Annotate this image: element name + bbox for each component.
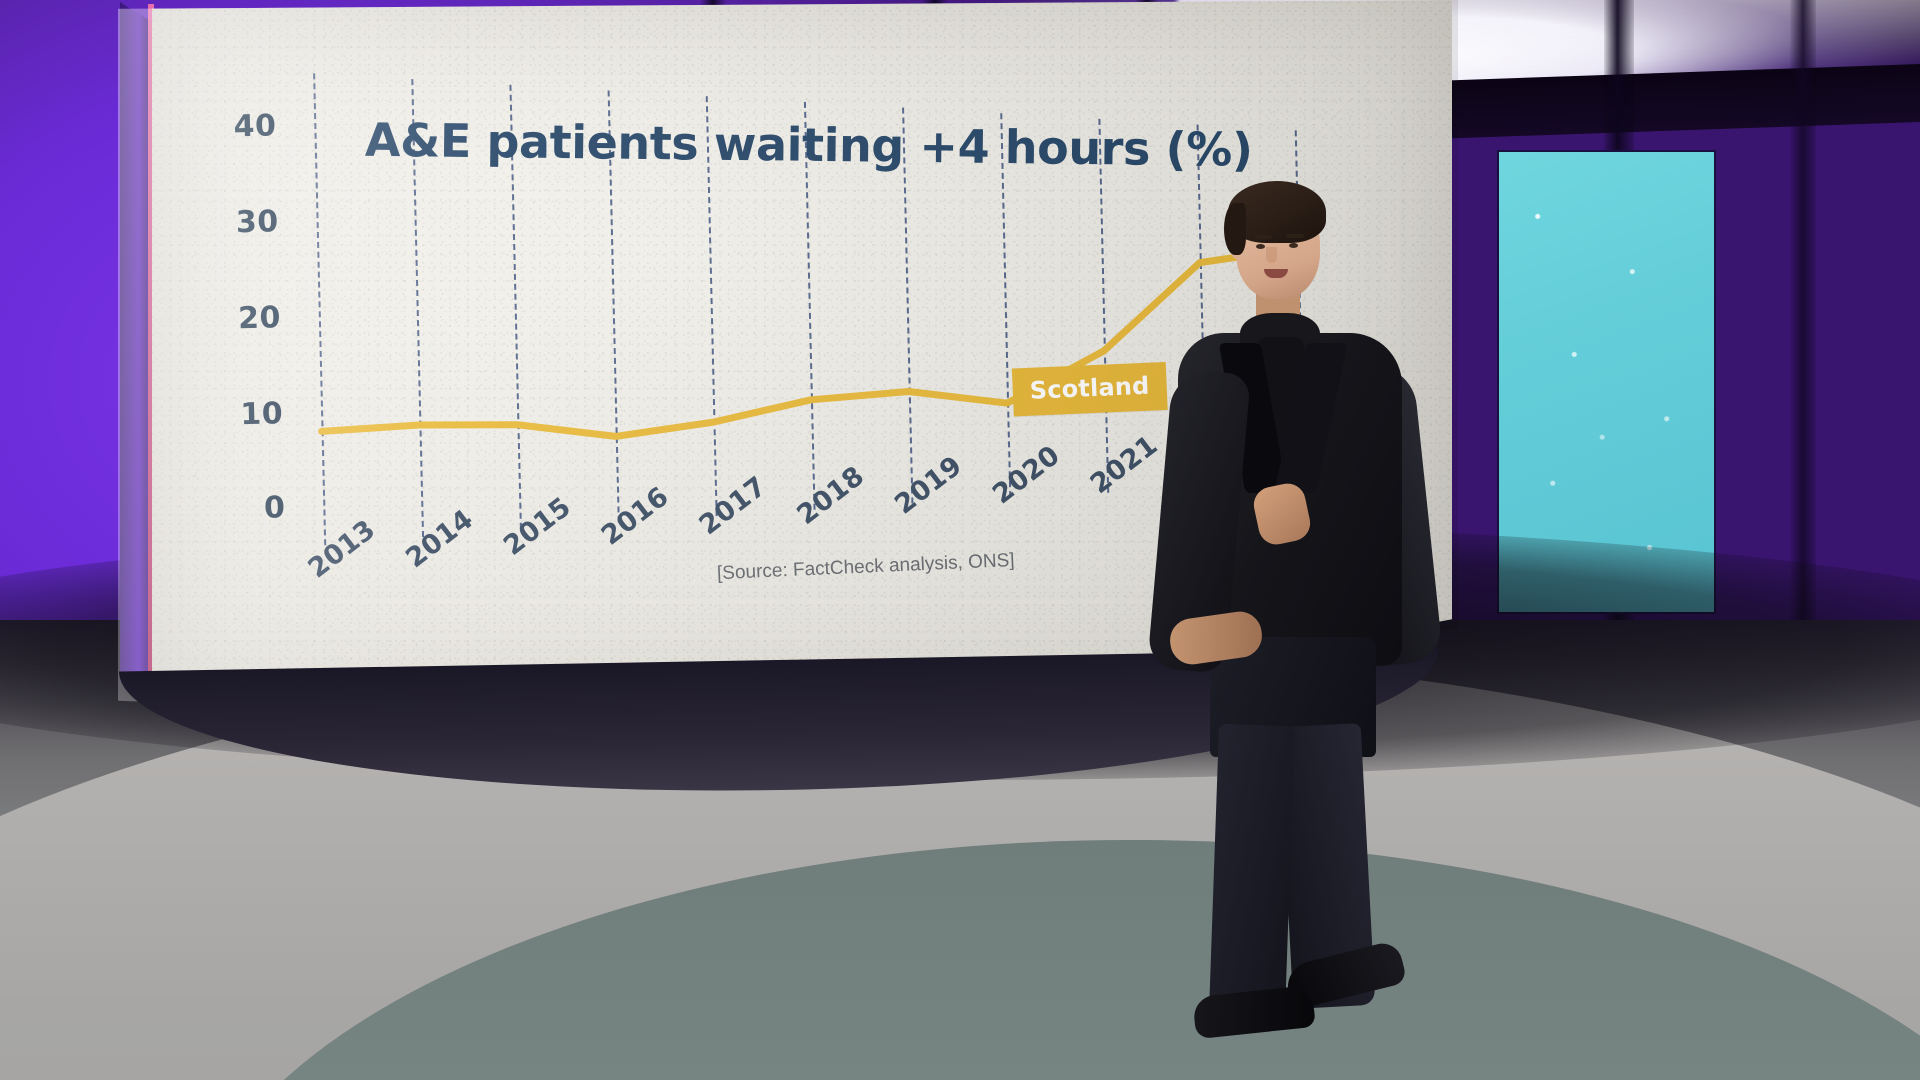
presenter-eye-left bbox=[1256, 244, 1265, 249]
presenter-eye-right bbox=[1289, 243, 1298, 248]
presenter-brow-left bbox=[1254, 235, 1272, 239]
presenter-leg-left bbox=[1209, 724, 1295, 1016]
presenter-sideburn bbox=[1224, 203, 1246, 255]
presenter-brow-right bbox=[1286, 234, 1304, 238]
presenter-nose bbox=[1266, 247, 1277, 263]
presenter bbox=[1140, 185, 1480, 975]
studio-scene: 40 30 20 10 0 A&E patients waiting +4 ho… bbox=[0, 0, 1920, 1080]
